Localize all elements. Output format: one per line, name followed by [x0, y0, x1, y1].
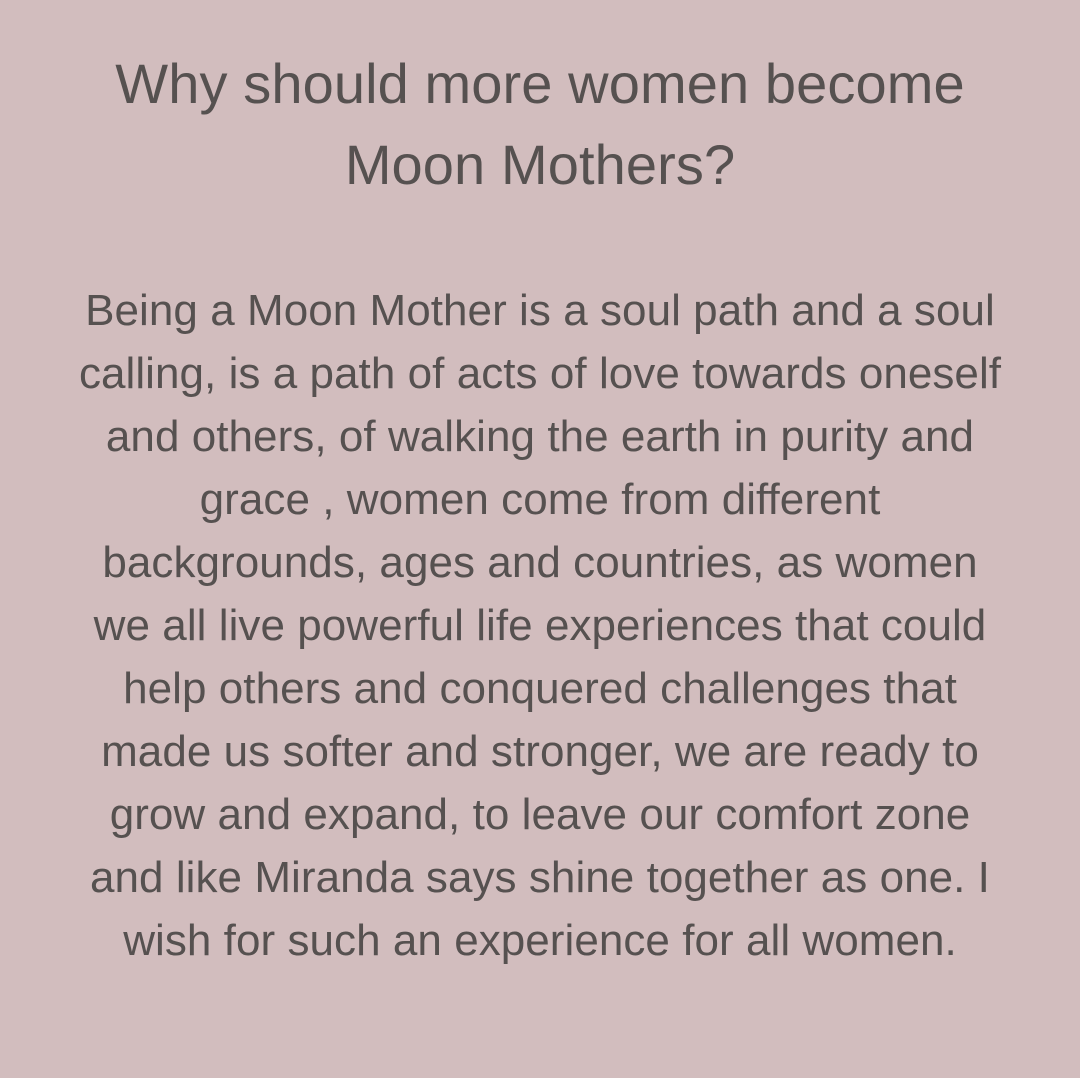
- quote-body-text: Being a Moon Mother is a soul path and a…: [40, 205, 1040, 972]
- quote-heading: Why should more women become Moon Mother…: [60, 0, 1020, 205]
- quote-card: Why should more women become Moon Mother…: [0, 0, 1080, 1078]
